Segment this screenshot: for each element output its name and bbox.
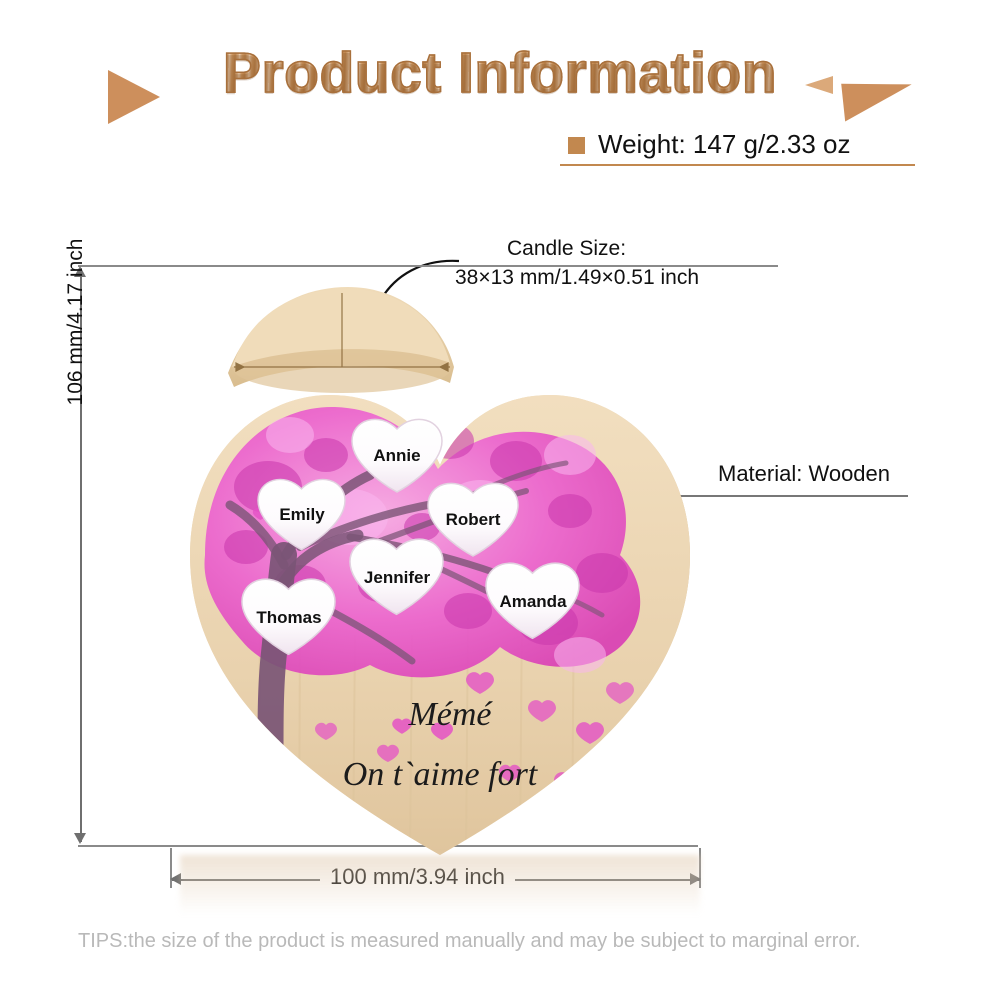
product-reflection (180, 855, 700, 915)
product-image: Mémé On t`aime fort Annie (150, 255, 730, 875)
engraved-line-1: Mémé (407, 696, 493, 733)
triangle-small-right-icon (805, 76, 833, 94)
weight-row: Weight: 147 g/2.33 oz (560, 126, 915, 166)
engraved-line-2: On t`aime fort (343, 756, 539, 793)
tips-note: TIPS:the size of the product is measured… (78, 930, 938, 953)
infographic-canvas: Product Information Weight: 147 g/2.33 o… (0, 0, 1000, 1000)
triangle-big-right-icon (841, 76, 915, 121)
weight-label: Weight: 147 g/2.33 oz (598, 126, 850, 162)
material-label: Material: Wooden (718, 461, 890, 487)
height-arrow-down-icon (74, 833, 86, 844)
name-heart-label: Robert (446, 510, 501, 529)
name-heart-label: Annie (373, 446, 420, 465)
square-bullet-icon (568, 137, 585, 154)
candle-recess (225, 287, 454, 425)
name-heart-label: Amanda (499, 592, 567, 611)
header: Product Information (0, 28, 1000, 118)
weight-underline (560, 164, 915, 166)
name-heart-label: Thomas (256, 608, 321, 627)
name-heart-label: Jennifer (364, 568, 431, 587)
height-dimension-label: 106 mm/4.17 inch (64, 192, 88, 452)
name-heart-label: Emily (279, 505, 325, 524)
